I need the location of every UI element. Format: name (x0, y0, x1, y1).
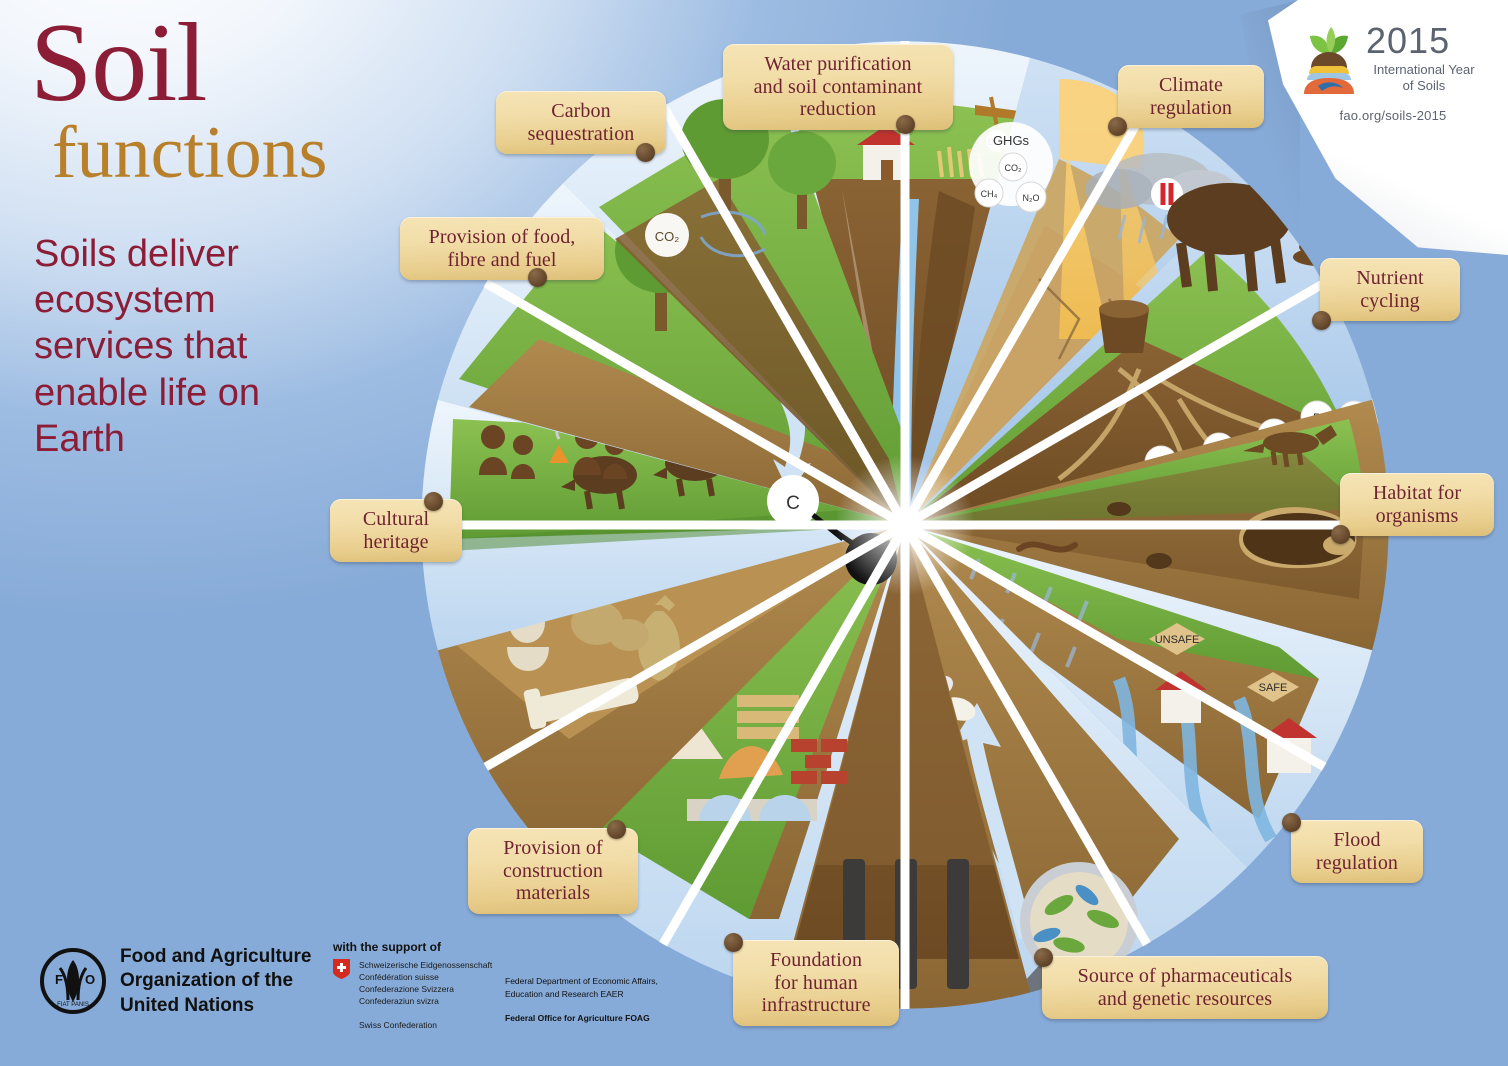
with-support-of-label: with the support of (333, 940, 663, 954)
label-food-fibre-fuel[interactable]: Provision of food, fibre and fuel (400, 217, 604, 280)
unsafe-sign: UNSAFE (1155, 634, 1200, 646)
svg-text:CO₂: CO₂ (1005, 163, 1023, 173)
swiss-flag-icon (333, 959, 350, 979)
carbon-label: C (786, 493, 800, 514)
label-water-purification[interactable]: Water purification and soil contaminant … (723, 44, 953, 130)
poster-canvas: Soil functions Soils deliver ecosystem s… (0, 0, 1508, 1066)
page-title: Soil (30, 10, 430, 116)
co2-label: CO₂ (655, 229, 680, 244)
fdea-office: Federal Office for Agriculture FOAG (505, 1013, 650, 1023)
label-dot-climate-regulation (1108, 117, 1127, 136)
label-dot-foundation-infrastructure (724, 933, 743, 952)
title-block: Soil functions Soils deliver ecosystem s… (30, 10, 430, 462)
svg-text:F: F (55, 972, 63, 987)
wheel-hub-glow (835, 455, 975, 595)
label-dot-flood-regulation (1282, 813, 1301, 832)
fao-logo-block: F A O FIAT PANIS Food and Agriculture Or… (40, 945, 311, 1018)
label-dot-cultural-heritage (424, 492, 443, 511)
label-foundation-infrastructure[interactable]: Foundation for human infrastructure (733, 940, 899, 1026)
label-dot-source-of-pharmaceuticals (1034, 948, 1053, 967)
tagline: Soils deliver ecosystem services that en… (34, 231, 354, 463)
svg-text:O: O (85, 972, 95, 987)
svg-text:N₂O: N₂O (1023, 193, 1040, 203)
svg-text:N: N (1381, 403, 1390, 417)
ghgs-label: GHGs (993, 133, 1030, 148)
svg-text:A: A (69, 962, 79, 977)
fao-motto: FIAT PANIS (57, 1002, 89, 1008)
swiss-names: Schweizerische Eidgenossenschaft Confédé… (359, 959, 492, 1007)
label-dot-construction-materials (607, 820, 626, 839)
fao-emblem-icon: F A O FIAT PANIS (40, 948, 106, 1014)
label-climate-regulation[interactable]: Climate regulation (1118, 65, 1264, 128)
fao-name: Food and Agriculture Organization of the… (120, 945, 311, 1018)
label-dot-carbon-sequestration (636, 143, 655, 162)
label-dot-nutrient-cycling (1312, 311, 1331, 330)
fdea-lines: Federal Department of Economic Affairs, … (505, 975, 755, 1000)
label-dot-food-fibre-fuel (528, 268, 547, 287)
label-dot-habitat-for-organisms (1331, 525, 1350, 544)
page-subtitle: functions (52, 118, 430, 188)
label-construction-materials[interactable]: Provision of construction materials (468, 828, 638, 914)
safe-sign: SAFE (1259, 682, 1288, 694)
label-source-of-pharmaceuticals[interactable]: Source of pharmaceuticals and genetic re… (1042, 956, 1328, 1019)
label-nutrient-cycling[interactable]: Nutrient cycling (1320, 258, 1460, 321)
label-habitat-for-organisms[interactable]: Habitat for organisms (1340, 473, 1494, 536)
label-flood-regulation[interactable]: Flood regulation (1291, 820, 1423, 883)
label-dot-water-purification (896, 115, 915, 134)
label-cultural-heritage[interactable]: Cultural heritage (330, 499, 462, 562)
fdea-block: Federal Department of Economic Affairs, … (505, 963, 755, 1025)
svg-text:CH₄: CH₄ (981, 189, 998, 199)
